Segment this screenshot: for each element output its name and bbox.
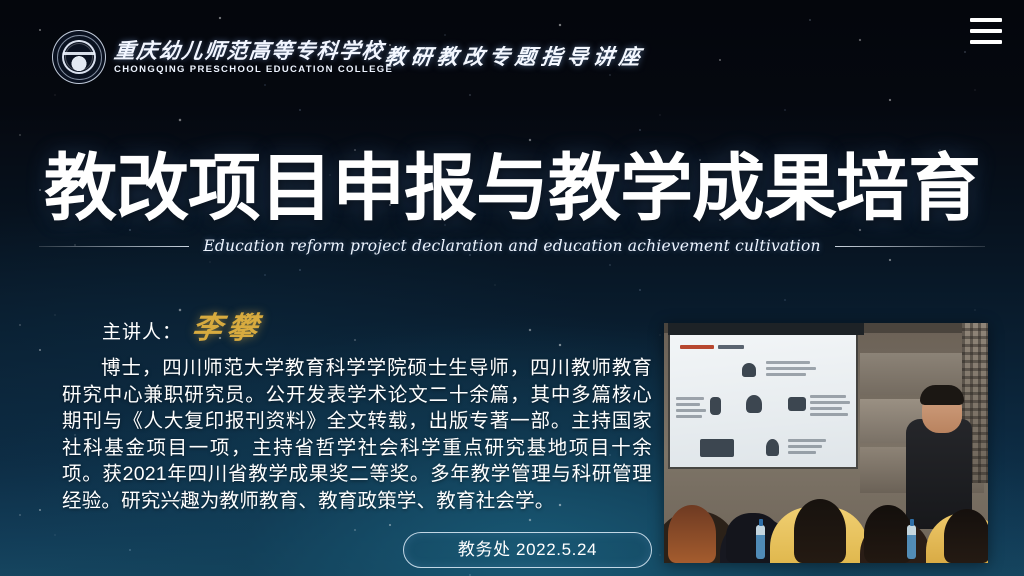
slide-text-d1	[788, 439, 826, 442]
slide-text-d2	[788, 445, 822, 448]
slide-title-mark	[680, 345, 714, 349]
slide-text-b3	[676, 409, 706, 412]
brand-text-group: 重庆幼儿师范高等专科学校 CHONGQING PRESCHOOL EDUCATI…	[114, 40, 393, 75]
brand-name-english: CHONGQING PRESCHOOL EDUCATION COLLEGE	[114, 64, 393, 75]
speaker-row: 主讲人： 李攀	[102, 313, 262, 346]
subtitle-rule-left	[39, 246, 189, 247]
photo-screen-housing	[668, 323, 864, 335]
menu-bar-2	[970, 29, 1002, 33]
presentation-poster: 重庆幼儿师范高等专科学校 CHONGQING PRESCHOOL EDUCATI…	[0, 0, 1024, 576]
slide-text-a2	[766, 367, 816, 370]
slide-icon-person	[766, 439, 779, 456]
audience-head-5	[944, 509, 988, 563]
slide-text-c4	[810, 413, 848, 416]
slide-text-c2	[810, 401, 850, 404]
hamburger-menu-icon[interactable]	[970, 18, 1002, 44]
slide-text-d3	[788, 451, 816, 454]
subtitle-rule-right	[835, 246, 985, 247]
slide-icon-right	[788, 397, 806, 411]
seal-inner-ring	[65, 43, 93, 71]
slide-icon-top	[742, 363, 756, 377]
college-seal-icon	[52, 30, 106, 84]
audience-head-3	[794, 499, 846, 563]
water-bottle-2	[907, 525, 916, 559]
page-subtitle: Education reform project declaration and…	[203, 236, 820, 256]
page-title: 教改项目申报与教学成果培育	[0, 146, 1024, 232]
slide-icon-group	[700, 439, 734, 457]
footer-badge: 教务处 2022.5.24	[403, 532, 652, 568]
slide-icon-center	[746, 395, 762, 413]
header-bar: 重庆幼儿师范高等专科学校 CHONGQING PRESCHOOL EDUCATI…	[0, 0, 1024, 96]
photo-projection-screen	[670, 335, 856, 467]
slide-text-c1	[810, 395, 846, 398]
slide-text-b1	[676, 397, 704, 400]
speaker-biography: 博士，四川师范大学教育科学学院硕士生导师，四川教师教育研究中心兼职研究员。公开发…	[62, 355, 652, 514]
footer-organizer-date: 教务处 2022.5.24	[458, 540, 597, 560]
speaker-name: 李攀	[190, 313, 264, 345]
college-branding: 重庆幼儿师范高等专科学校 CHONGQING PRESCHOOL EDUCATI…	[52, 30, 393, 84]
title-block: 教改项目申报与教学成果培育 Education reform project d…	[0, 146, 1024, 256]
slide-text-a3	[766, 373, 806, 376]
slide-text-b2	[676, 403, 700, 406]
photo-audience	[664, 459, 988, 563]
audience-head-4	[864, 505, 912, 563]
subtitle-row: Education reform project declaration and…	[0, 236, 1024, 256]
audience-head-1	[668, 505, 716, 563]
speaker-label: 主讲人：	[102, 320, 182, 346]
menu-bar-3	[970, 40, 1002, 44]
slide-icon-left	[710, 397, 721, 415]
slide-subtitle-mark	[718, 345, 744, 349]
water-bottle-1	[756, 525, 765, 559]
lecture-photo	[664, 323, 988, 563]
slide-text-b4	[676, 415, 702, 418]
header-slogan: 教研教改专题指导讲座	[383, 44, 646, 70]
slide-text-a1	[766, 361, 810, 364]
slide-text-c3	[810, 407, 842, 410]
brand-name-chinese: 重庆幼儿师范高等专科学校	[113, 40, 395, 63]
photo-speaker-hair	[920, 385, 964, 405]
menu-bar-1	[970, 18, 1002, 22]
